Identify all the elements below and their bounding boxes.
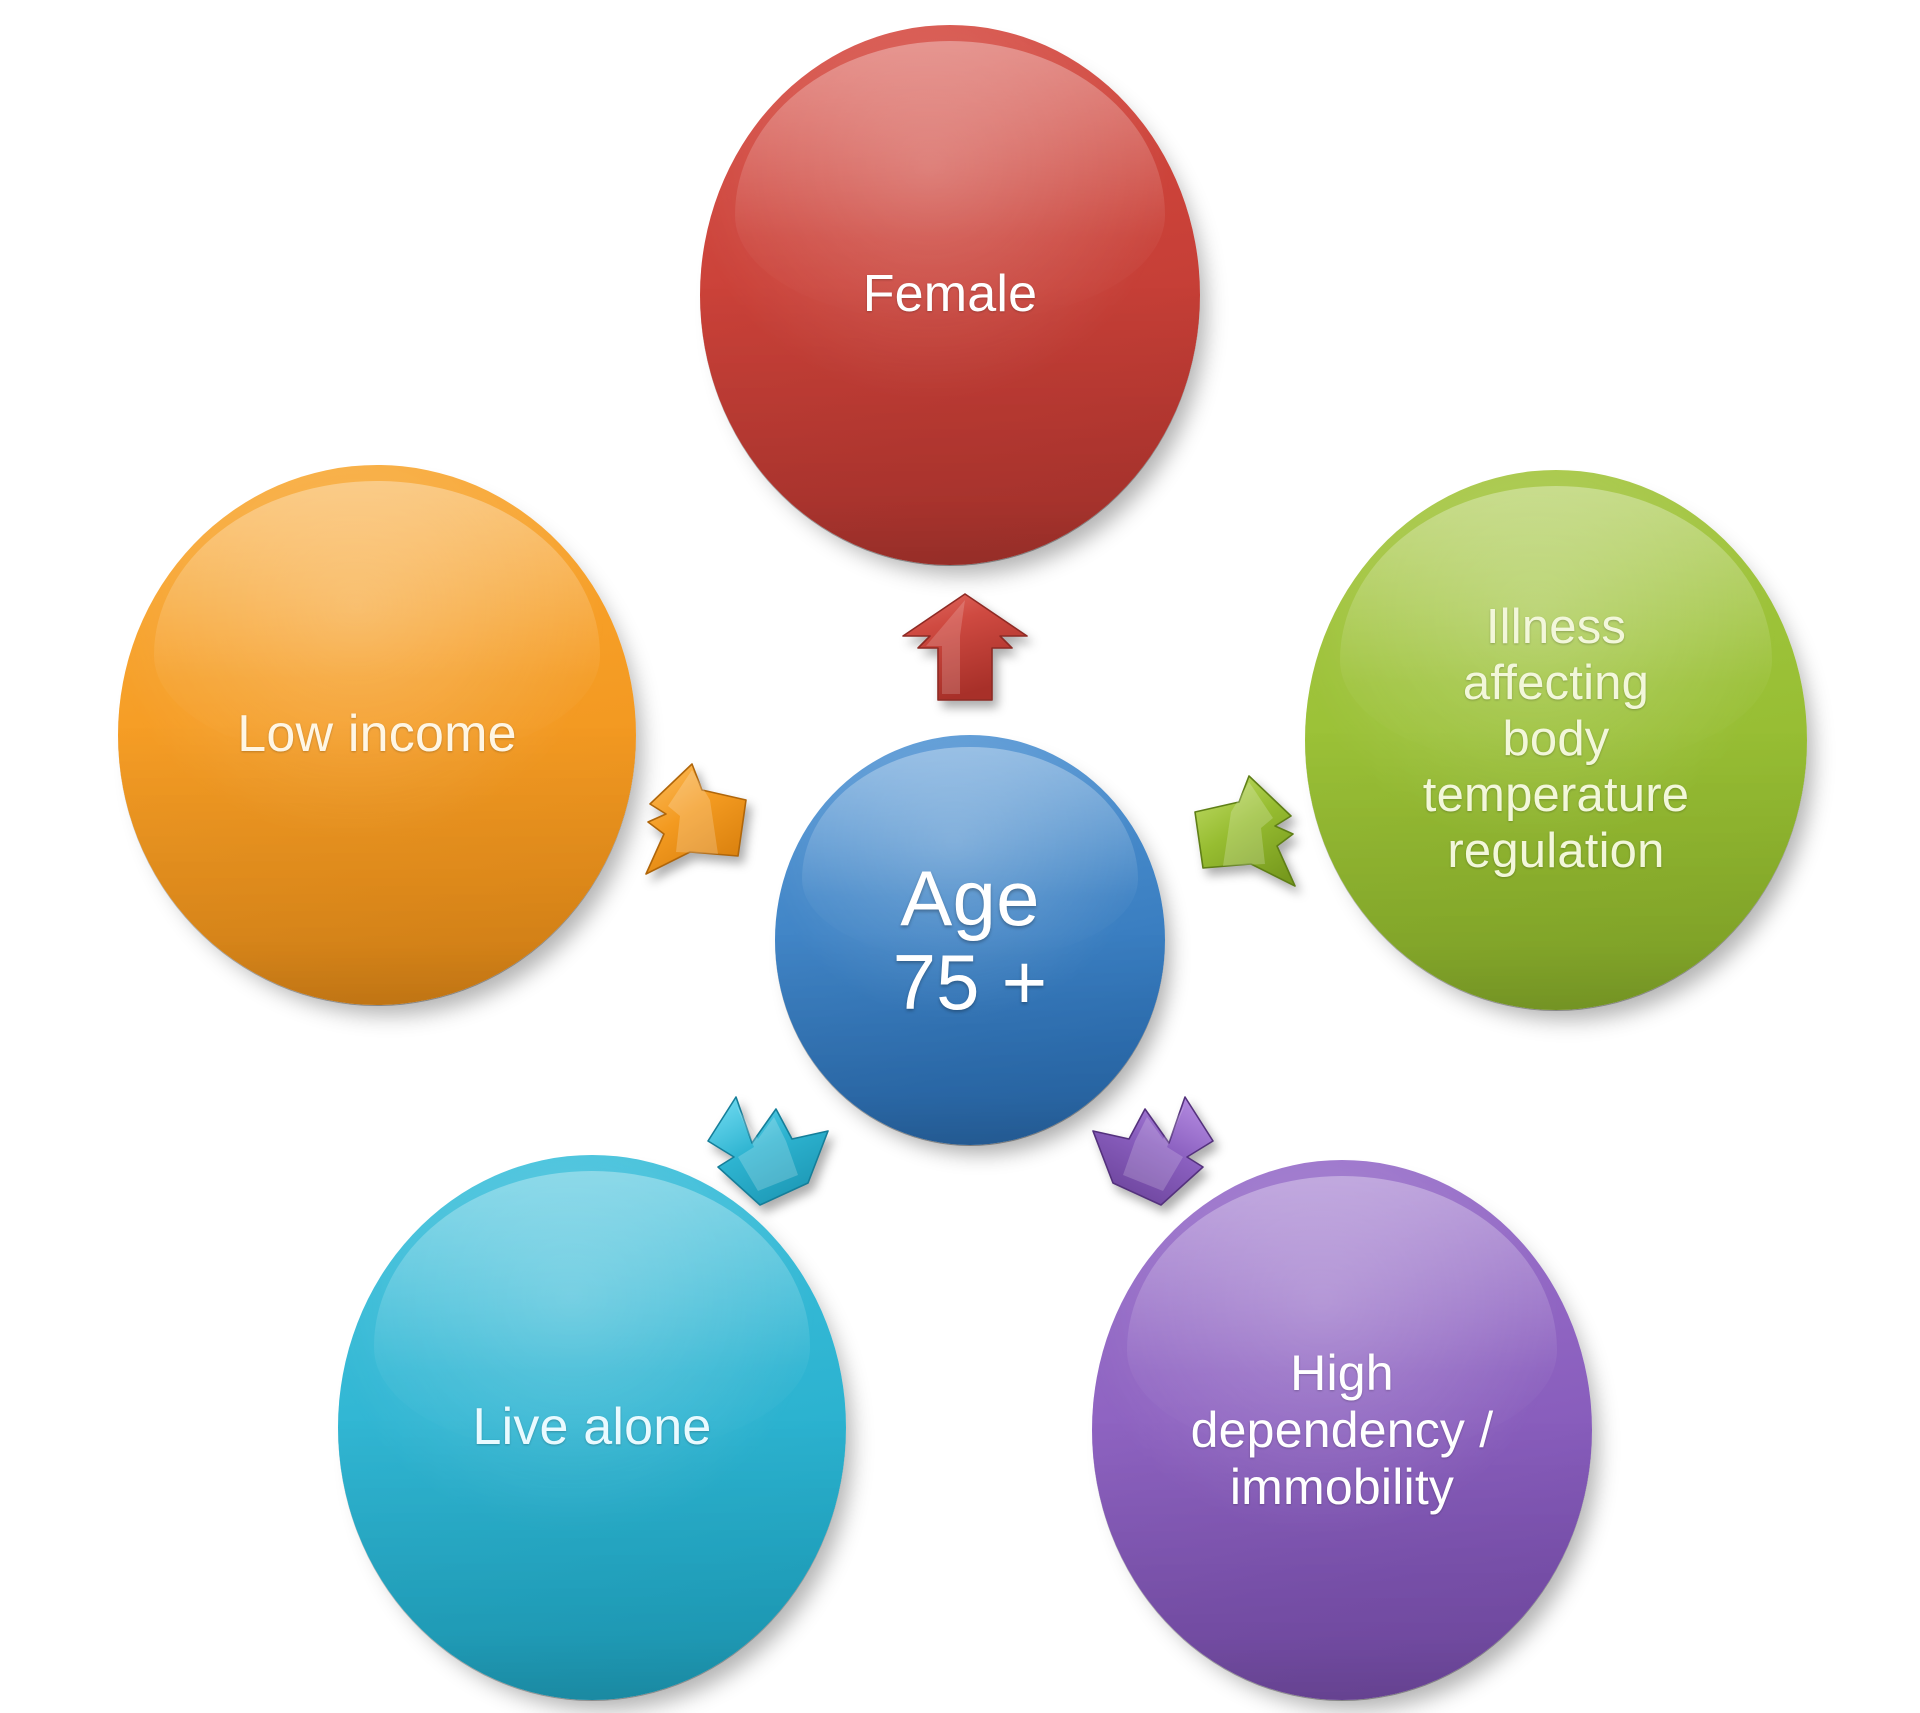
node-female-label: Female (855, 265, 1046, 324)
node-center-age[interactable]: Age 75 + (775, 735, 1165, 1145)
arrow-left-icon (640, 760, 756, 878)
node-center-label: Age 75 + (885, 856, 1056, 1024)
arrow-up-icon (900, 592, 1030, 702)
diagram-canvas: Female Low income Illness affecting body… (0, 0, 1920, 1713)
node-live-alone-label: Live alone (464, 1398, 719, 1457)
arrow-right-icon (1185, 772, 1301, 890)
node-low-income[interactable]: Low income (118, 465, 636, 1005)
arrow-down-left-icon (700, 1095, 836, 1213)
node-illness-label: Illness affecting body temperature regul… (1415, 600, 1697, 879)
node-live-alone[interactable]: Live alone (338, 1155, 846, 1700)
arrow-down-right-icon (1085, 1095, 1221, 1213)
node-dependency-label: High dependency / immobility (1183, 1345, 1502, 1516)
node-high-dependency-immobility[interactable]: High dependency / immobility (1092, 1160, 1592, 1700)
node-low-income-label: Low income (229, 705, 524, 764)
node-illness[interactable]: Illness affecting body temperature regul… (1305, 470, 1807, 1010)
node-female[interactable]: Female (700, 25, 1200, 565)
